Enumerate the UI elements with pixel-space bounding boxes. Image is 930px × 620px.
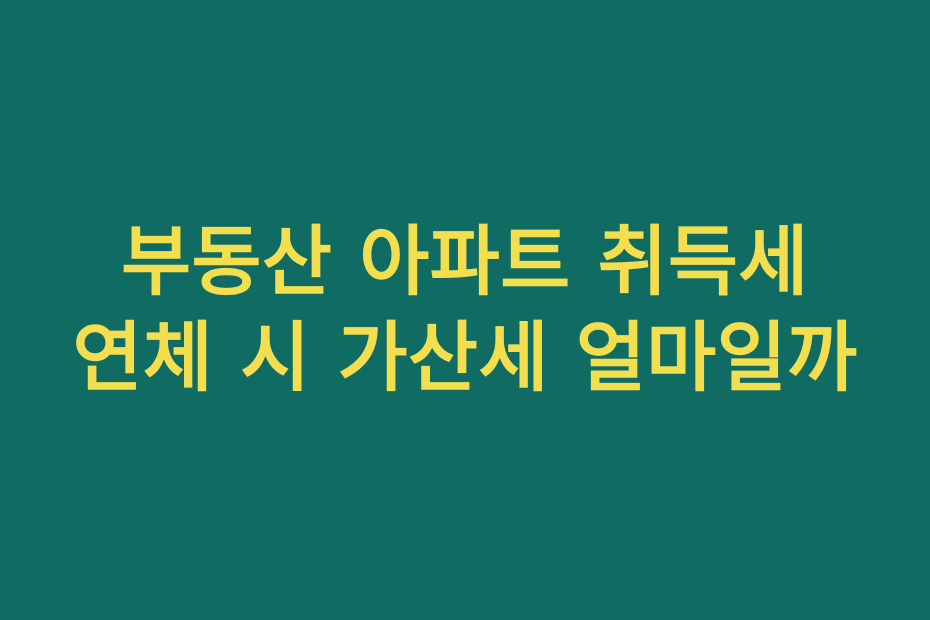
headline-line-2: 연체 시 가산세 얼마일까 [0, 310, 930, 406]
page-title: 부동산 아파트 취득세 연체 시 가산세 얼마일까 [0, 214, 930, 406]
headline-line-1: 부동산 아파트 취득세 [0, 214, 930, 310]
banner-canvas: 부동산 아파트 취득세 연체 시 가산세 얼마일까 [0, 0, 930, 620]
